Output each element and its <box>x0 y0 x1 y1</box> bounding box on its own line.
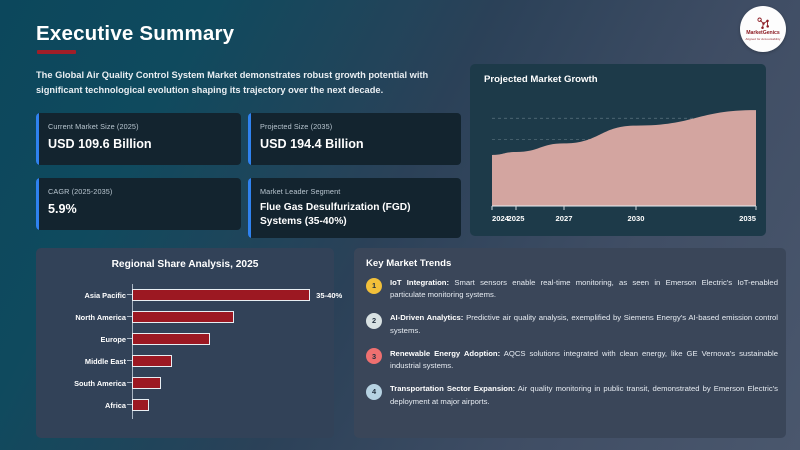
trend-description: AI-Driven Analytics: Predictive air qual… <box>390 312 778 337</box>
stat-label: CAGR (2025-2035) <box>48 187 230 196</box>
bar-category-label: Europe <box>44 335 132 344</box>
bar-axis-tick <box>127 338 132 339</box>
growth-chart-title: Projected Market Growth <box>484 74 598 85</box>
stat-value: USD 109.6 Billion <box>48 136 230 153</box>
trend-list: 1IoT Integration: Smart sensors enable r… <box>366 277 778 419</box>
bar-chart-title: Regional Share Analysis, 2025 <box>36 259 334 270</box>
trend-description: Transportation Sector Expansion: Air qua… <box>390 383 778 408</box>
bar-category-label: Asia Pacific <box>44 291 132 300</box>
trend-heading: IoT Integration: <box>390 278 449 287</box>
area-chart: 20242025202720302035 <box>478 92 760 230</box>
page-title: Executive Summary <box>36 22 234 46</box>
trend-item: 2AI-Driven Analytics: Predictive air qua… <box>366 312 778 337</box>
trend-number-badge: 3 <box>366 348 382 364</box>
bar-category-label: Africa <box>44 401 132 410</box>
bar-axis-tick <box>127 316 132 317</box>
title-underline-accent <box>37 50 76 54</box>
bar-rect <box>132 355 172 368</box>
bar-axis-tick <box>127 294 132 295</box>
stat-card-market-leader-segment: Market Leader Segment Flue Gas Desulfuri… <box>248 178 461 238</box>
svg-text:2030: 2030 <box>628 214 645 223</box>
bar-axis-tick <box>127 360 132 361</box>
trends-title: Key Market Trends <box>366 258 451 269</box>
trend-heading: Renewable Energy Adoption: <box>390 349 500 358</box>
trend-number-badge: 2 <box>366 313 382 329</box>
trend-number-badge: 4 <box>366 384 382 400</box>
stat-card-cagr: CAGR (2025-2035) 5.9% <box>36 178 241 230</box>
stat-card-current-market-size: Current Market Size (2025) USD 109.6 Bil… <box>36 113 241 165</box>
bar-rect <box>132 311 234 324</box>
stat-label: Projected Size (2035) <box>260 122 450 131</box>
stat-value: USD 194.4 Billion <box>260 136 450 153</box>
stat-card-projected-size: Projected Size (2035) USD 194.4 Billion <box>248 113 461 165</box>
bar-chart-row: Middle East <box>44 354 172 368</box>
trend-description: Renewable Energy Adoption: AQCS solution… <box>390 348 778 373</box>
bar-chart: Asia Pacific35-40%North AmericaEuropeMid… <box>44 284 328 426</box>
bar-chart-row: North America <box>44 310 234 324</box>
slide-canvas: Executive Summary The Global Air Quality… <box>0 0 800 450</box>
bar-rect <box>132 377 161 390</box>
bar-chart-row: Asia Pacific35-40% <box>44 288 342 302</box>
stat-value: Flue Gas Desulfurization (FGD) Systems (… <box>260 201 450 229</box>
intro-paragraph: The Global Air Quality Control System Ma… <box>36 68 448 99</box>
trend-heading: Transportation Sector Expansion: <box>390 384 515 393</box>
bar-category-label: Middle East <box>44 357 132 366</box>
bar-category-label: South America <box>44 379 132 388</box>
brand-logo: MarketGenics Aligned for Accountability <box>740 6 786 52</box>
stat-value: 5.9% <box>48 201 230 218</box>
trend-item: 3Renewable Energy Adoption: AQCS solutio… <box>366 348 778 373</box>
trend-item: 1IoT Integration: Smart sensors enable r… <box>366 277 778 302</box>
svg-text:2035: 2035 <box>739 214 757 223</box>
bar-chart-row: Africa <box>44 398 149 412</box>
logo-tagline: Aligned for Accountability <box>746 38 781 41</box>
bar-value-label: 35-40% <box>316 291 342 300</box>
bar-axis-tick <box>127 382 132 383</box>
bar-category-label: North America <box>44 313 132 322</box>
trend-number-badge: 1 <box>366 278 382 294</box>
trend-heading: AI-Driven Analytics: <box>390 313 463 322</box>
trend-item: 4Transportation Sector Expansion: Air qu… <box>366 383 778 408</box>
bar-rect <box>132 333 210 346</box>
stat-label: Current Market Size (2025) <box>48 122 230 131</box>
bar-rect <box>132 399 149 412</box>
bar-rect <box>132 289 310 302</box>
svg-text:2025: 2025 <box>508 214 526 223</box>
svg-text:2027: 2027 <box>556 214 573 223</box>
trend-description: IoT Integration: Smart sensors enable re… <box>390 277 778 302</box>
logo-name: MarketGenics <box>746 31 779 36</box>
molecule-network-icon <box>756 17 771 31</box>
bar-chart-row: South America <box>44 376 161 390</box>
bar-axis-tick <box>127 404 132 405</box>
stat-label: Market Leader Segment <box>260 187 450 196</box>
